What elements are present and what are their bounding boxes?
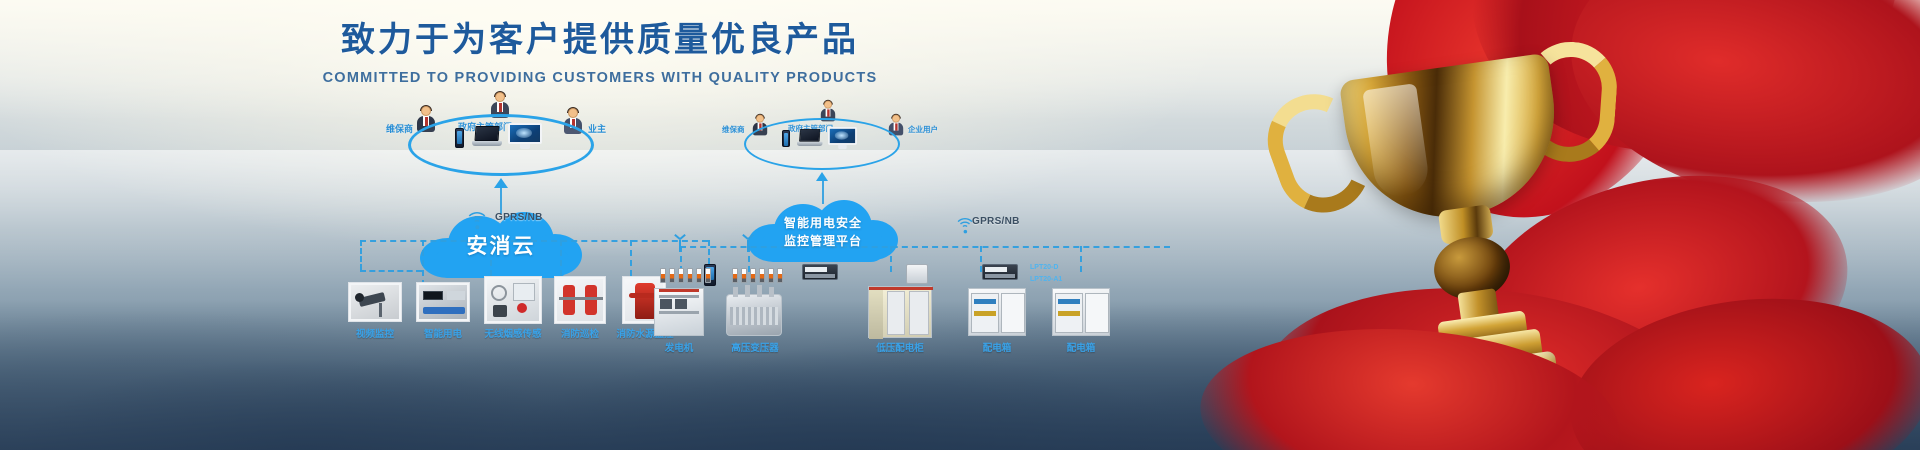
wifi-signal-icon xyxy=(464,212,491,231)
cloud-label-line2: 监控管理平台 xyxy=(748,232,898,249)
endpoint-label-transformer: 高压变压器 xyxy=(714,340,796,354)
meter-bank-1 xyxy=(660,268,711,283)
endpoint-label-cctv: 视频监控 xyxy=(348,326,402,340)
endpoint-tile-distribution-box-2 xyxy=(1052,288,1110,336)
phone-icon-2 xyxy=(782,130,790,147)
uplink-arrow-icon xyxy=(494,178,508,188)
cloud-power-platform: 智能用电安全 监控管理平台 xyxy=(748,200,898,260)
phone-icon xyxy=(455,128,464,148)
gprs-label-2: GPRS/NB xyxy=(972,216,1020,227)
branch-link-1 xyxy=(360,270,422,272)
monitor-icon-2 xyxy=(828,127,857,149)
branch-r4 xyxy=(890,246,892,272)
endpoint-tile-lv-switchgear xyxy=(868,286,932,338)
endpoint-tile-power-meter xyxy=(416,282,470,322)
label-maintainer: 维保商 xyxy=(386,122,413,135)
cloud-label-anxiaoyun: 安消云 xyxy=(420,230,582,260)
gateway-module-3 xyxy=(982,264,1018,280)
label-enterprise: 企业用户 xyxy=(908,124,938,135)
label-owner: 业主 xyxy=(588,122,606,135)
diagram-anxiaoyun: 维保商 政府主管部门 业主 安消云 GPRS/NB xyxy=(330,90,730,420)
cloud-label-line1: 智能用电安全 xyxy=(748,214,898,231)
heading-chinese: 致力于为客户提供质量优良产品 xyxy=(0,12,1200,61)
module-label-1: LPT20-D xyxy=(1030,264,1058,271)
branch-r6 xyxy=(1080,246,1082,272)
laptop-icon xyxy=(472,126,502,148)
heading-english: COMMITTED TO PROVIDING CUSTOMERS WITH QU… xyxy=(0,70,1200,86)
laptop-icon-2 xyxy=(797,129,823,148)
endpoint-label-fire-pump: 消防巡检 xyxy=(552,326,608,340)
module-label-2: LPT20-A1 xyxy=(1030,276,1062,283)
label-maintainer-2: 维保商 xyxy=(722,124,745,135)
endpoint-tile-fire-pump xyxy=(554,276,606,324)
endpoint-tile-transformer xyxy=(726,294,782,336)
power-pole-icon-1 xyxy=(674,236,686,252)
branch-1 xyxy=(360,240,362,270)
diagram-power-safety: 维保商 政府主管部门 企业用户 智能用电安全 监控管理平台 GPRS/NB xyxy=(700,88,1160,418)
endpoint-label-power-meter: 智能用电 xyxy=(414,326,472,340)
endpoint-label-distribution-box-1: 配电箱 xyxy=(968,340,1026,354)
endpoint-label-smoke-sensor: 无线烟感传感 xyxy=(474,326,552,340)
endpoint-label-generator: 发电机 xyxy=(648,340,710,354)
monitor-icon xyxy=(508,123,542,149)
endpoint-tile-generator xyxy=(654,288,704,336)
endpoint-label-distribution-box-2: 配电箱 xyxy=(1052,340,1110,354)
uplink-line xyxy=(500,186,502,214)
endpoint-tile-smoke-sensor xyxy=(484,276,542,324)
gprs-label: GPRS/NB xyxy=(495,212,543,223)
promo-banner: 致力于为客户提供质量优良产品 COMMITTED TO PROVIDING CU… xyxy=(0,0,1920,450)
meter-bank-2 xyxy=(732,268,783,283)
trophy-artwork xyxy=(1140,0,1920,450)
endpoint-label-lv-switchgear: 低压配电柜 xyxy=(858,340,942,354)
uplink-arrow-icon-2 xyxy=(816,172,828,181)
gateway-module-1 xyxy=(802,264,838,280)
endpoint-tile-distribution-box-1 xyxy=(968,288,1026,336)
endpoint-tile-cctv xyxy=(348,282,402,322)
gateway-module-2 xyxy=(906,264,928,284)
banner-heading: 致力于为客户提供质量优良产品 COMMITTED TO PROVIDING CU… xyxy=(0,12,1200,86)
